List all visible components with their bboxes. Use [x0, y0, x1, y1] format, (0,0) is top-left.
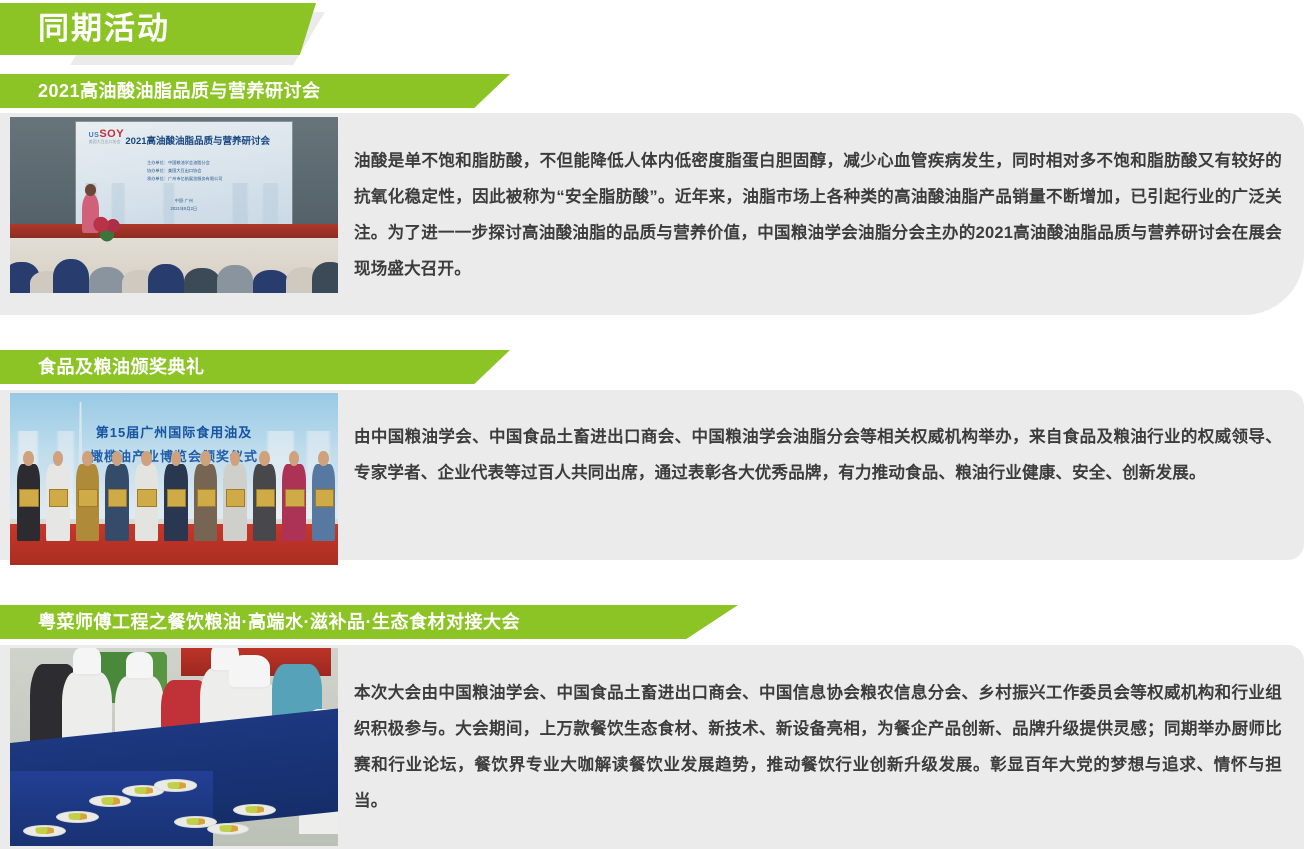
main-title-banner: 同期活动	[0, 3, 360, 59]
section-title-3: 粤菜师傅工程之餐饮粮油·高端水·滋补品·生态食材对接大会	[38, 605, 520, 639]
photo-award-ceremony: 第15届广州国际食用油及 橄榄油产业博览会颁奖仪式	[10, 393, 338, 565]
section-body-3: 本次大会由中国粮油学会、中国食品土畜进出口商会、中国信息协会粮农信息分会、乡村振…	[354, 676, 1282, 820]
photo-tint-overlay	[10, 117, 338, 293]
section-title-1: 2021高油酸油脂品质与营养研讨会	[38, 74, 321, 108]
section-header-1: 2021高油酸油脂品质与营养研讨会	[0, 74, 510, 108]
section-header-3: 粤菜师傅工程之餐饮粮油·高端水·滋补品·生态食材对接大会	[0, 605, 738, 639]
photo-chef-competition	[10, 648, 338, 846]
photo-tint-overlay	[10, 648, 338, 846]
section-body-2: 由中国粮油学会、中国食品土畜进出口商会、中国粮油学会油脂分会等相关权威机构举办，…	[354, 420, 1282, 492]
section-header-2: 食品及粮油颁奖典礼	[0, 350, 510, 384]
photo-seminar-hall: USSOY 美国大豆出口协会 2021高油酸油脂品质与营养研讨会 主办单位：中国…	[10, 117, 338, 293]
page-root: 同期活动 2021高油酸油脂品质与营养研讨会 USSOY 美国大豆出口协会 20…	[0, 0, 1314, 849]
page-title: 同期活动	[38, 3, 170, 55]
section-title-2: 食品及粮油颁奖典礼	[38, 350, 205, 384]
photo-tint-overlay	[10, 393, 338, 565]
section-body-1: 油酸是单不饱和脂肪酸，不但能降低人体内低密度脂蛋白胆固醇，减少心血管疾病发生，同…	[354, 144, 1282, 288]
